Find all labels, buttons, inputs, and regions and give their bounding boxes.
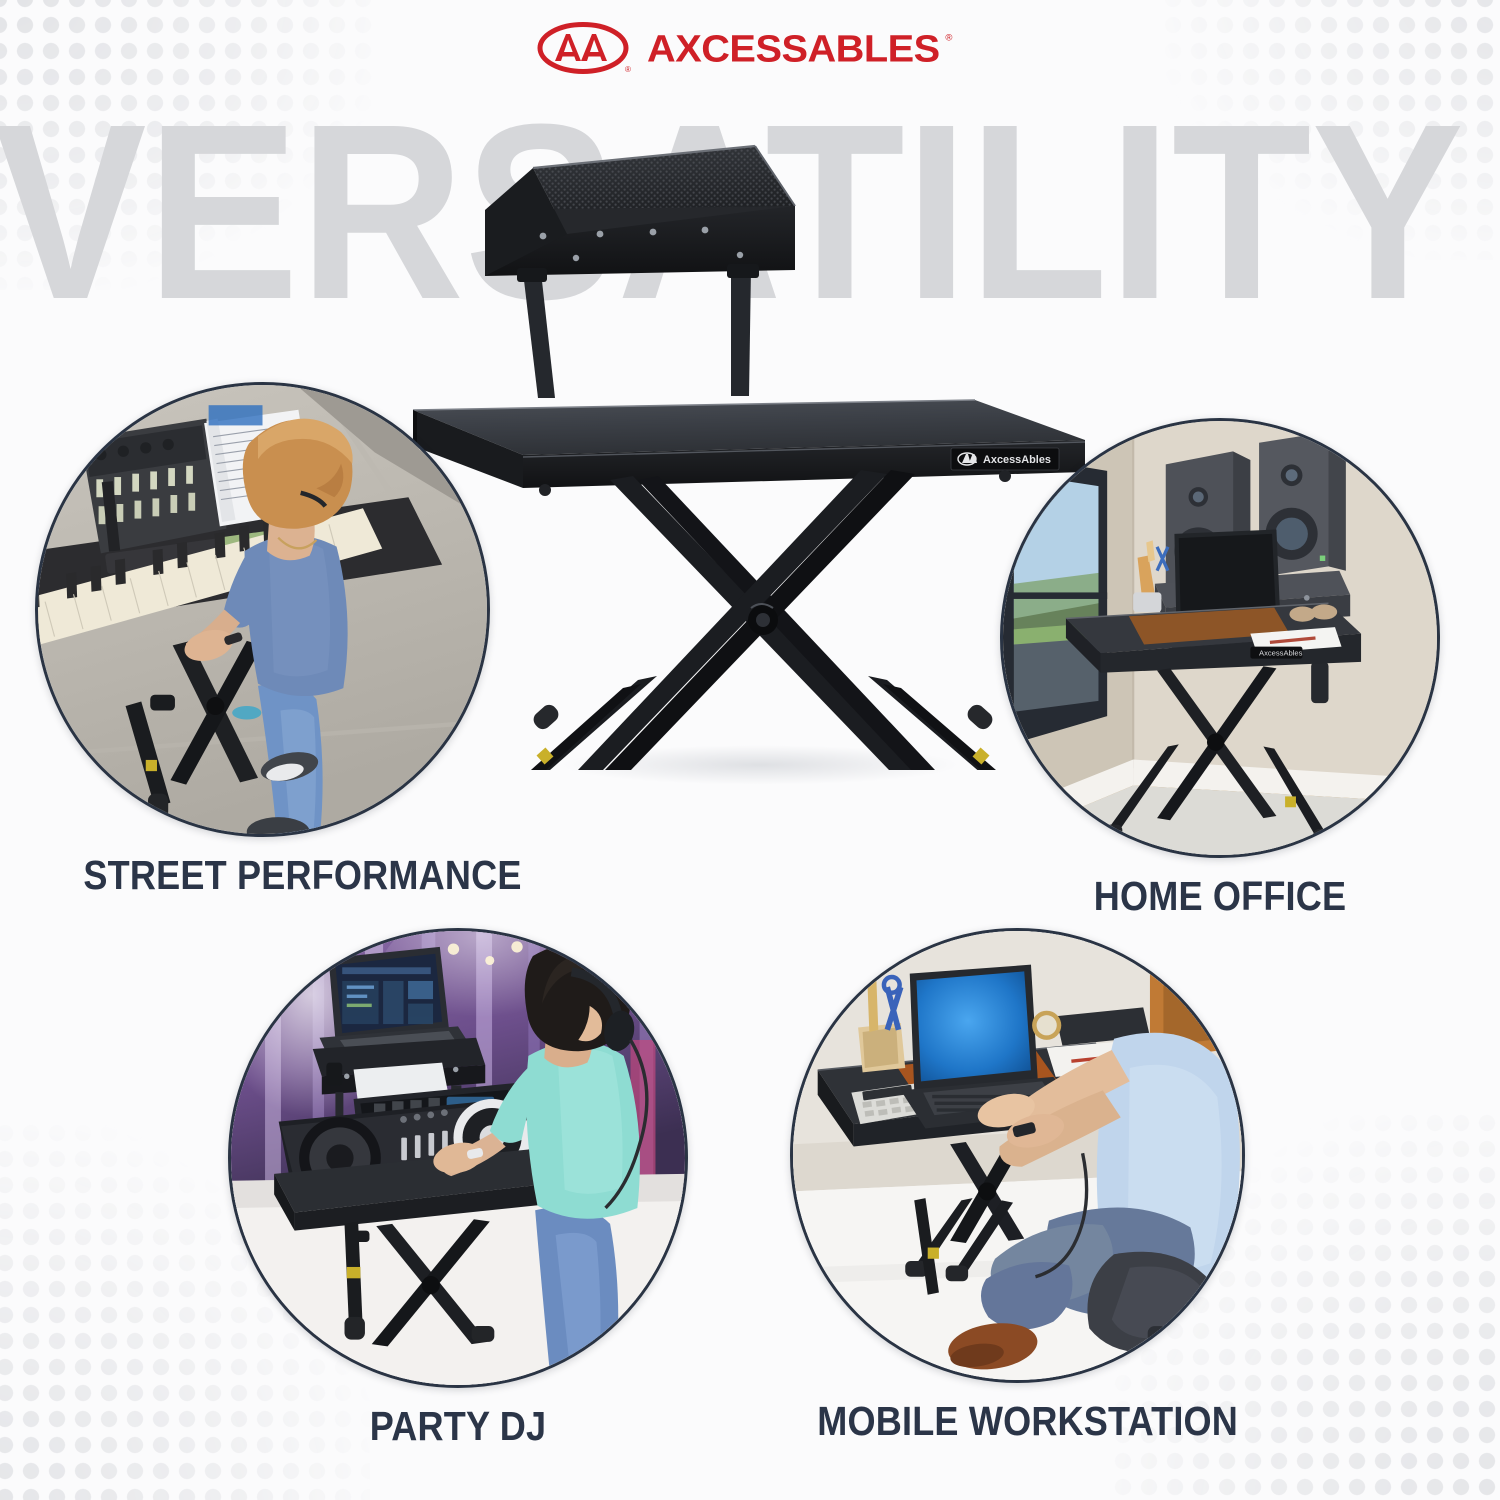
axcessables-oval-mark-icon: ® xyxy=(537,22,633,76)
feature-mobile-photo xyxy=(790,928,1245,1383)
svg-text:AxcessAbles: AxcessAbles xyxy=(1259,648,1303,657)
feature-street-photo xyxy=(35,382,490,837)
hero-product-image: AxcessAbles xyxy=(395,110,1105,770)
svg-text:®: ® xyxy=(625,65,631,74)
svg-text:AXCESSABLES: AXCESSABLES xyxy=(647,27,940,70)
feature-home-caption: HOME OFFICE xyxy=(1026,876,1413,917)
feature-home-photo: AxcessAbles xyxy=(1000,418,1440,858)
svg-text:®: ® xyxy=(946,32,953,43)
feature-party-dj: PARTY DJ xyxy=(228,928,688,1447)
brand-logo: ® AXCESSABLES ® xyxy=(0,22,1500,76)
feature-dj-caption: PARTY DJ xyxy=(256,1406,661,1447)
axcessables-wordmark-icon: AXCESSABLES ® xyxy=(647,27,963,71)
feature-mobile-workstation: MOBILE WORKSTATION xyxy=(790,928,1245,1442)
product-marketing-image: ® AXCESSABLES ® VERSATILITY xyxy=(0,0,1500,1500)
feature-home-office: AxcessAbles HOME OFFICE xyxy=(1000,418,1440,917)
feature-dj-photo xyxy=(228,928,688,1388)
feature-street-performance: STREET PERFORMANCE xyxy=(35,382,490,896)
feature-mobile-caption: MOBILE WORKSTATION xyxy=(817,1401,1217,1442)
feature-street-caption: STREET PERFORMANCE xyxy=(35,855,435,896)
